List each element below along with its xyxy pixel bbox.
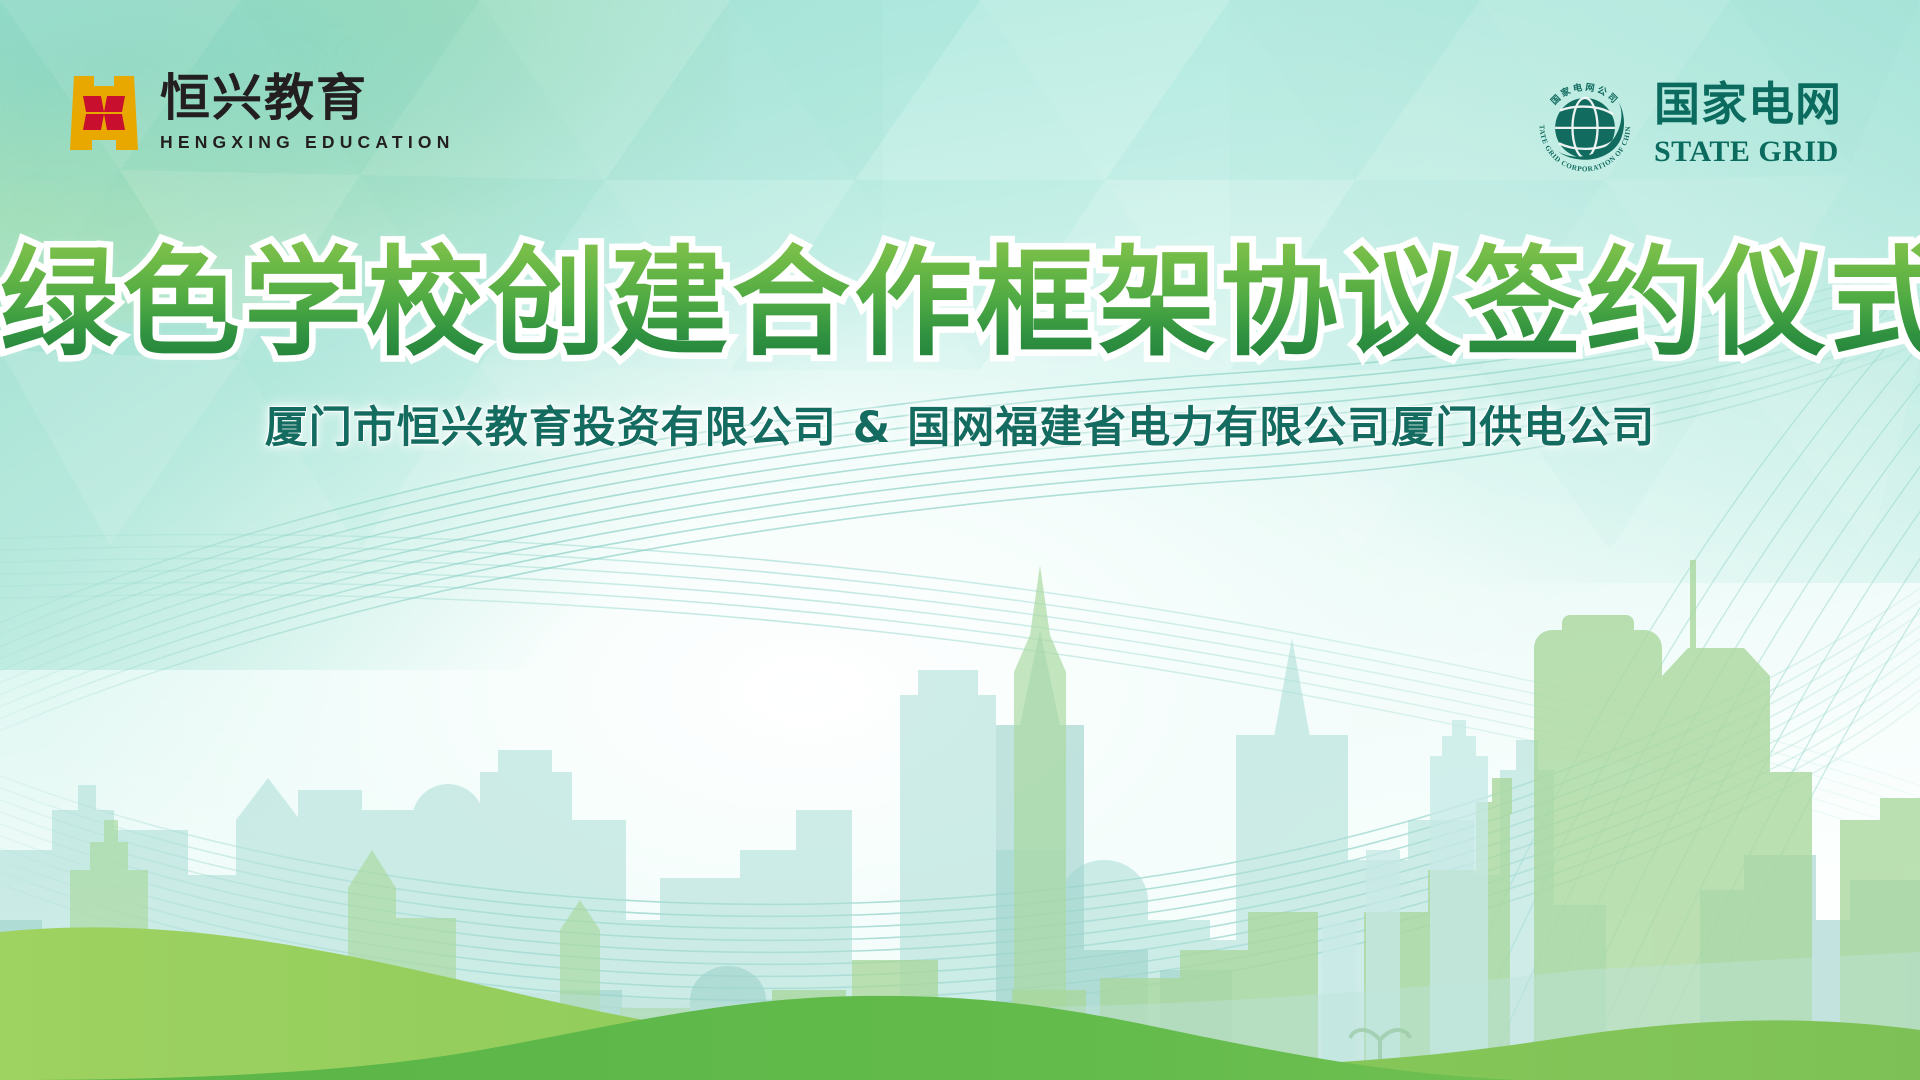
title-block: 绿色学校创建合作框架协议签约仪式 绿色学校创建合作框架协议签约仪式 厦门市恒兴教… [0, 240, 1920, 455]
state-grid-cn-name: 国家电网 [1654, 81, 1842, 127]
main-title: 绿色学校创建合作框架协议签约仪式 绿色学校创建合作框架协议签约仪式 [0, 240, 1920, 367]
hengxing-education-logo: 恒兴教育 HENGXING EDUCATION [68, 72, 455, 154]
hengxing-en-name: HENGXING EDUCATION [160, 132, 455, 153]
state-grid-globe-emblem: 国家电网公司 STATE GRID CORPORATION OF CHINA [1532, 72, 1638, 178]
green-hills [0, 890, 1920, 1080]
state-grid-logo: 国家电网公司 STATE GRID CORPORATION OF CHINA 国… [1532, 72, 1842, 178]
state-grid-en-name: STATE GRID [1654, 135, 1842, 169]
sub-title: 厦门市恒兴教育投资有限公司 & 国网福建省电力有限公司厦门供电公司 [0, 393, 1920, 455]
main-title-fill: 绿色学校创建合作框架协议签约仪式 [0, 234, 1920, 372]
banner-canvas: 恒兴教育 HENGXING EDUCATION 国家电网公司 [0, 0, 1920, 1080]
hengxing-x-mark [68, 72, 140, 154]
hengxing-cn-name: 恒兴教育 [160, 73, 455, 123]
